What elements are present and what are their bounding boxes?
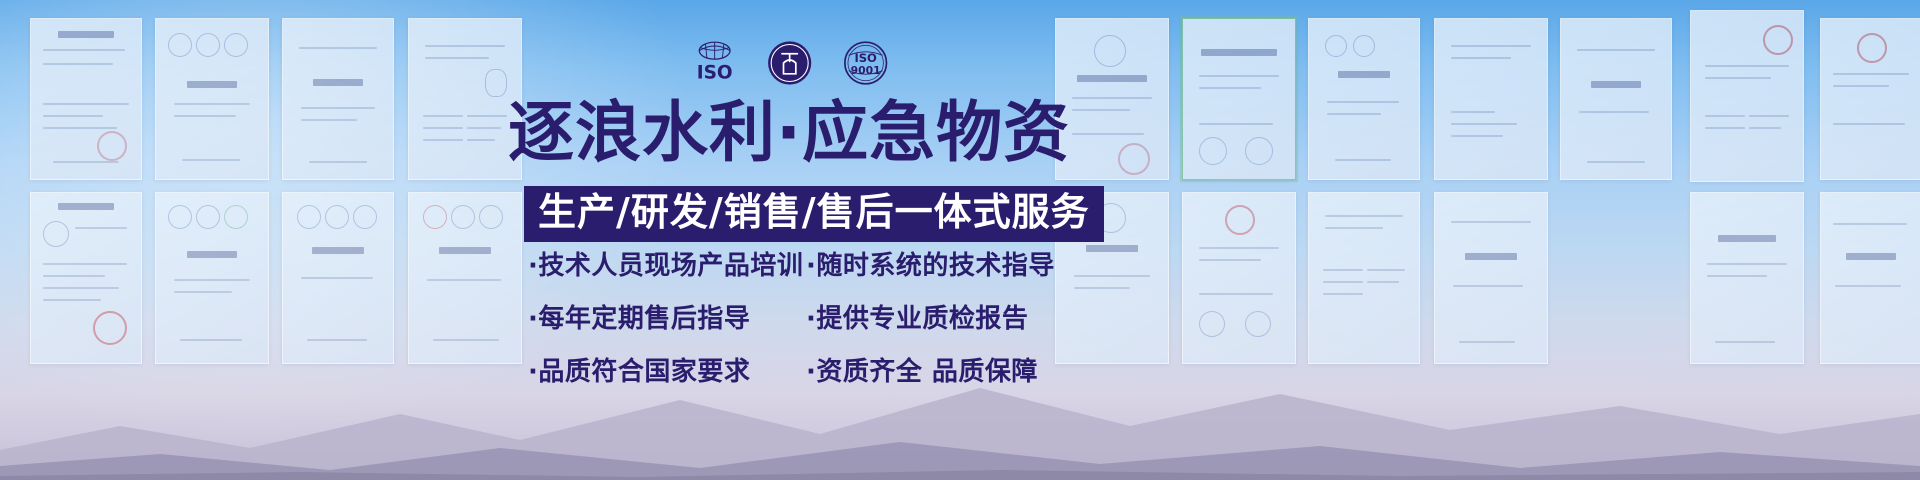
feature-row: ·技术人员现场产品培训 ·随时系统的技术指导 xyxy=(528,245,1068,282)
certificate-thumb xyxy=(1434,18,1548,180)
certificate-thumb xyxy=(1820,18,1920,180)
banner-headline: 逐浪水利·应急物资 xyxy=(508,100,1070,166)
iso-9001-badge: ISO 9001 xyxy=(841,34,890,92)
cqc-emblem-badge xyxy=(765,34,814,92)
banner-subtitle: 生产/研发/销售/售后一体式服务 xyxy=(538,190,1090,234)
certificate-thumb xyxy=(1308,18,1420,180)
svg-text:ISO: ISO xyxy=(697,62,733,83)
certificate-thumb xyxy=(282,18,394,180)
certificate-thumb xyxy=(30,18,142,180)
feature-row: ·品质符合国家要求 ·资质齐全 品质保障 xyxy=(528,351,1068,388)
certification-badges: ISO ISO 9001 xyxy=(690,30,890,96)
certificate-thumb xyxy=(1560,18,1672,180)
banner-subtitle-bar: 生产/研发/销售/售后一体式服务 xyxy=(524,186,1104,242)
feature-item: ·提供专业质检报告 xyxy=(806,298,1028,335)
feature-item: ·每年定期售后指导 xyxy=(528,298,806,335)
feature-row: ·每年定期售后指导 ·提供专业质检报告 xyxy=(528,298,1068,335)
certificate-thumb xyxy=(1055,18,1169,180)
feature-item: ·技术人员现场产品培训 xyxy=(528,245,806,282)
feature-item: ·随时系统的技术指导 xyxy=(806,245,1055,282)
feature-list: ·技术人员现场产品培训 ·随时系统的技术指导 ·每年定期售后指导 ·提供专业质检… xyxy=(528,245,1068,404)
iso-globe-badge: ISO xyxy=(690,34,739,92)
certificate-thumb xyxy=(1690,10,1804,182)
certificate-thumb xyxy=(1182,18,1296,180)
certificate-thumb xyxy=(408,18,522,180)
promo-banner: ISO ISO 9001 逐浪水利·应急物资 生产/研发/销售/售后一体式服务 … xyxy=(0,0,1920,480)
svg-text:9001: 9001 xyxy=(850,64,880,77)
feature-item: ·资质齐全 品质保障 xyxy=(806,351,1038,388)
feature-item: ·品质符合国家要求 xyxy=(528,351,806,388)
certificate-thumb xyxy=(155,18,269,180)
